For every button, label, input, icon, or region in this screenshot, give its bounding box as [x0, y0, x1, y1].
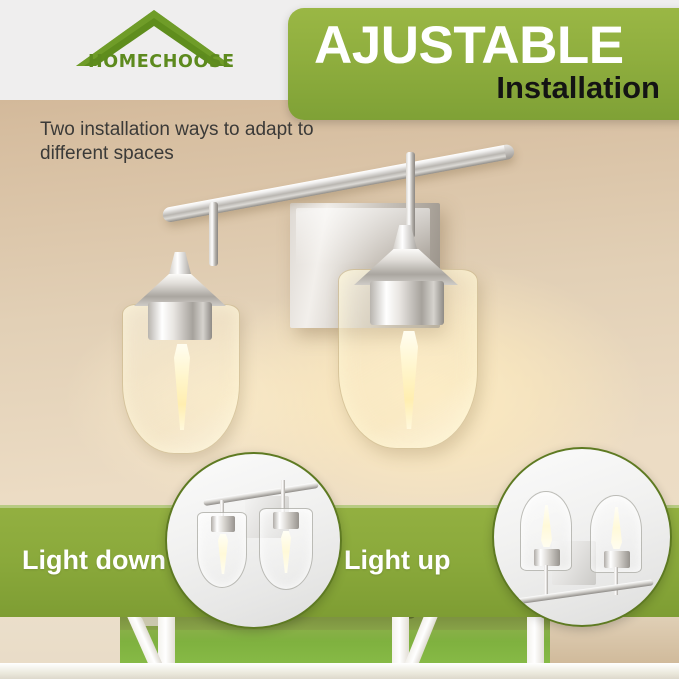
callout-circle-light-down [165, 452, 342, 629]
shade-fitter-right [392, 225, 418, 253]
subtitle-text: Two installation ways to adapt to differ… [40, 118, 340, 167]
crossbar-end-cap [504, 143, 516, 159]
callout-circle-light-up [492, 447, 672, 627]
lamp-left [122, 252, 272, 457]
brand-logo: HOMECHOOSE [72, 8, 242, 90]
socket-collar-left [148, 302, 212, 340]
mini-collar-left [534, 549, 560, 566]
callout-label-light-down: Light down [22, 545, 166, 576]
banner-subhead: Installation [496, 72, 660, 105]
vanity-light-down-icon [167, 454, 340, 627]
product-marketing-image: HOMECHOOSE AJUSTABLE Installation Two in… [0, 0, 679, 679]
lamp-right [320, 225, 510, 460]
mini-collar-right [604, 551, 630, 568]
mini-stem-right [614, 567, 618, 595]
banner-headline: AJUSTABLE [314, 18, 676, 74]
shade-bell-right [354, 249, 458, 285]
headline-banner: AJUSTABLE Installation [288, 8, 679, 120]
vanity-light-up-icon [494, 449, 670, 625]
mini-collar-right [273, 512, 299, 529]
mini-stem-left [544, 565, 548, 595]
brand-name: HOMECHOOSE [88, 52, 235, 72]
socket-collar-right [370, 281, 444, 325]
mini-collar-left [211, 516, 235, 532]
callout-label-light-up: Light up [344, 545, 450, 576]
